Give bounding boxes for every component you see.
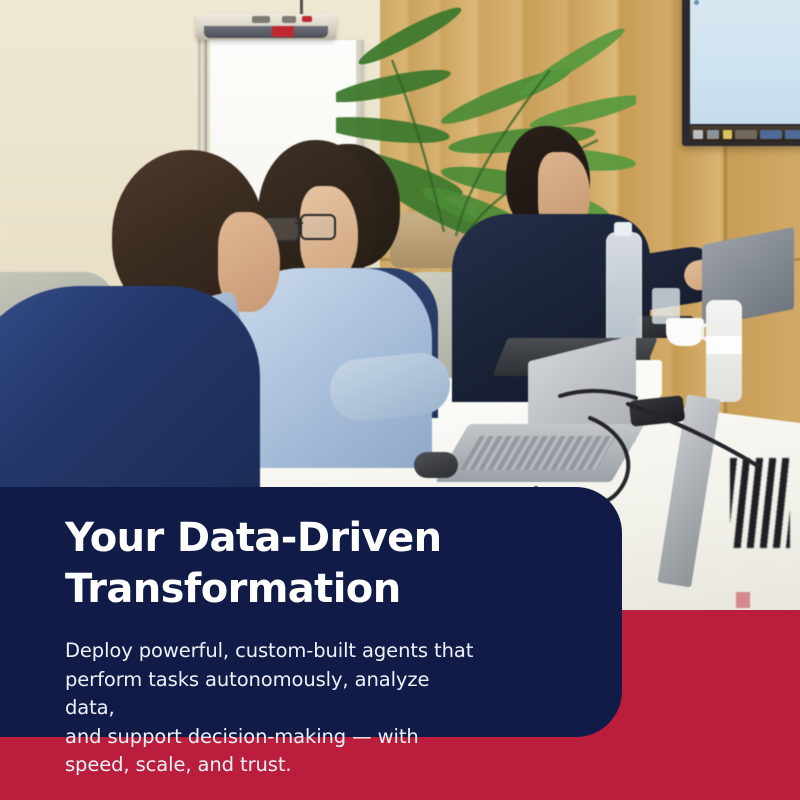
coffee-cup-right	[666, 318, 704, 346]
taskbar-app-icon-3	[785, 130, 800, 139]
page-title: Your Data-Driven Transformation	[65, 513, 562, 615]
flipchart-clip-2	[282, 16, 296, 23]
water-bottle-cap	[614, 222, 632, 236]
taskbar-folder-icon	[723, 130, 732, 139]
taskbar-app-icon-2	[760, 130, 782, 139]
body-line-3: and support decision-making — with	[65, 725, 419, 748]
headline-line-1: Your Data-Driven	[65, 515, 442, 561]
person-navy-sweater-body	[0, 286, 260, 506]
body-line-2: perform tasks autonomously, analyze data…	[65, 668, 429, 720]
eyeglasses-bridge-icon	[295, 222, 303, 224]
body-line-1: Deploy powerful, custom-built agents tha…	[65, 639, 473, 662]
flipchart-clip-3	[302, 16, 312, 22]
water-bottle-tall	[606, 232, 642, 352]
display-cursor-icon	[694, 0, 699, 5]
promo-card: Your Data-Driven Transformation Deploy p…	[0, 0, 800, 800]
text-panel: Your Data-Driven Transformation Deploy p…	[0, 487, 622, 737]
flipchart-clamp	[204, 26, 328, 38]
wall-display-screen	[690, 0, 800, 124]
flipchart-logo	[272, 26, 294, 37]
flipchart-clip-1	[252, 16, 270, 23]
red-marking	[736, 592, 750, 608]
body-line-4: speed, scale, and trust.	[65, 753, 291, 776]
water-bottle-label	[706, 336, 742, 354]
eyeglasses-right-lens-icon	[300, 214, 336, 240]
headline-line-2: Transformation	[65, 566, 401, 612]
taskbar-start-icon	[693, 130, 703, 139]
taskbar-app-icon-1	[735, 130, 757, 139]
taskbar-window-icon	[707, 130, 719, 139]
body-copy: Deploy powerful, custom-built agents tha…	[65, 637, 485, 780]
